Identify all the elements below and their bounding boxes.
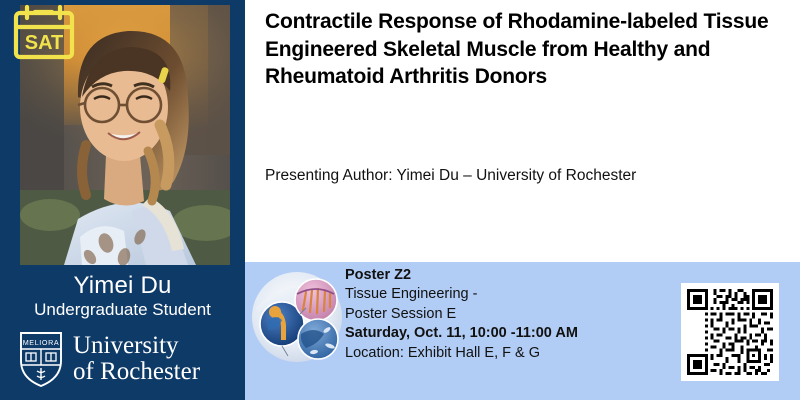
svg-text:MELIORA: MELIORA <box>23 338 60 347</box>
session-track: Tissue Engineering - <box>345 285 675 304</box>
presenter-name: Yimei Du <box>0 272 245 300</box>
session-details: Poster Z2 Tissue Engineering - Poster Se… <box>345 266 675 363</box>
session-location: Location: Exhibit Hall E, F & G <box>345 344 675 363</box>
poster-number: Poster Z2 <box>345 266 675 285</box>
qr-code-icon[interactable] <box>681 283 779 381</box>
meliora-shield-icon: MELIORA <box>18 330 64 388</box>
presenter-role: Undergraduate Student <box>0 300 245 320</box>
session-info-panel: Poster Z2 Tissue Engineering - Poster Se… <box>245 262 800 400</box>
university-wordmark: University of Rochester <box>73 333 200 385</box>
session-thumbnail-image <box>248 268 346 366</box>
university-logo: MELIORA University of Rochester <box>18 326 230 392</box>
presenting-author: Presenting Author: Yimei Du – University… <box>265 166 785 186</box>
session-name: Poster Session E <box>345 305 675 324</box>
calendar-icon: SAT <box>11 4 77 62</box>
session-datetime: Saturday, Oct. 11, 10:00 -11:00 AM <box>345 324 675 343</box>
page-title: Contractile Response of Rhodamine-labele… <box>265 8 775 91</box>
presenter-panel: SAT Yimei Du Undergraduate Student MELIO… <box>0 0 245 400</box>
presenter-announcement-card: SAT Yimei Du Undergraduate Student MELIO… <box>0 0 800 400</box>
calendar-day-label: SAT <box>25 32 64 54</box>
